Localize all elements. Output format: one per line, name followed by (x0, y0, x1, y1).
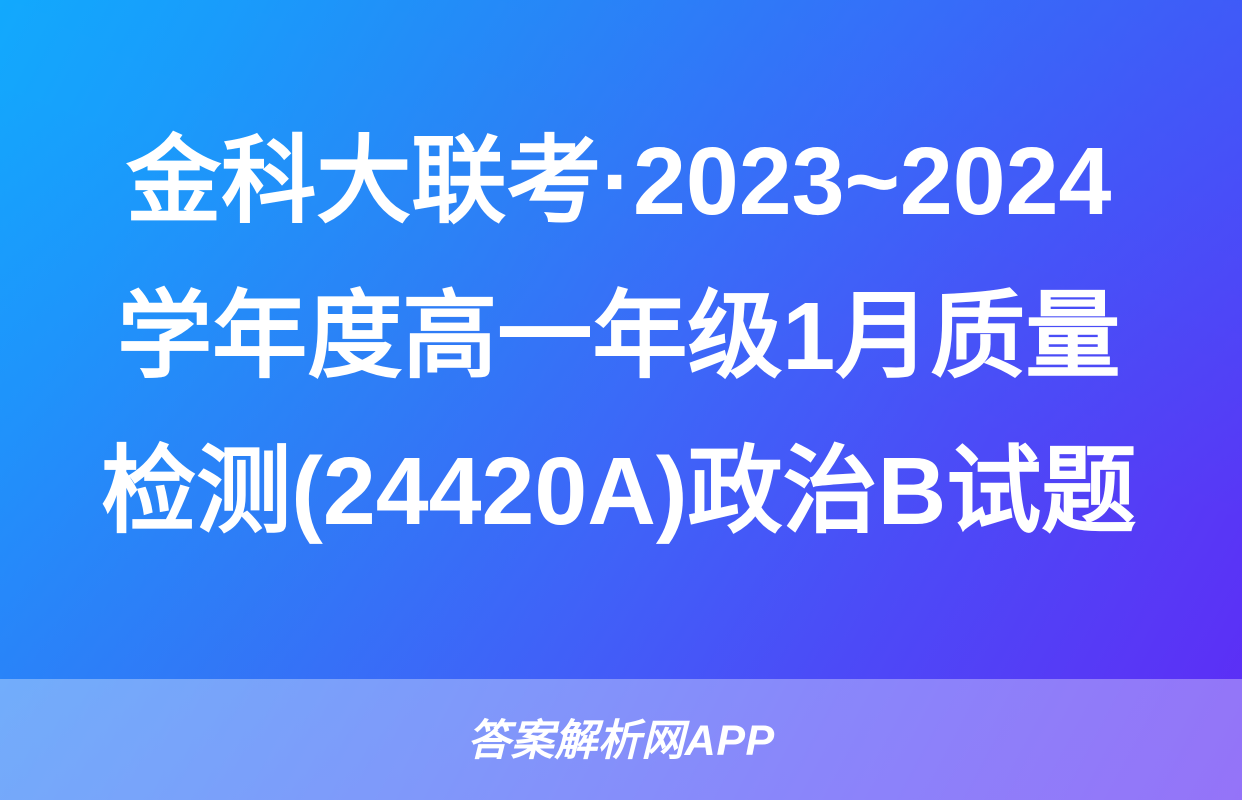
page-title: 金科大联考·2023~2024学年度高一年级1月质量检测(24420A)政治B试… (100, 104, 1138, 569)
watermark-label: 答案解析网APP (467, 720, 774, 763)
watermark-band: 答案解析网APP (0, 679, 1242, 800)
exam-cover-poster: 金科大联考·2023~2024学年度高一年级1月质量检测(24420A)政治B试… (0, 0, 1242, 800)
title-area: 金科大联考·2023~2024学年度高一年级1月质量检测(24420A)政治B试… (100, 104, 1148, 664)
